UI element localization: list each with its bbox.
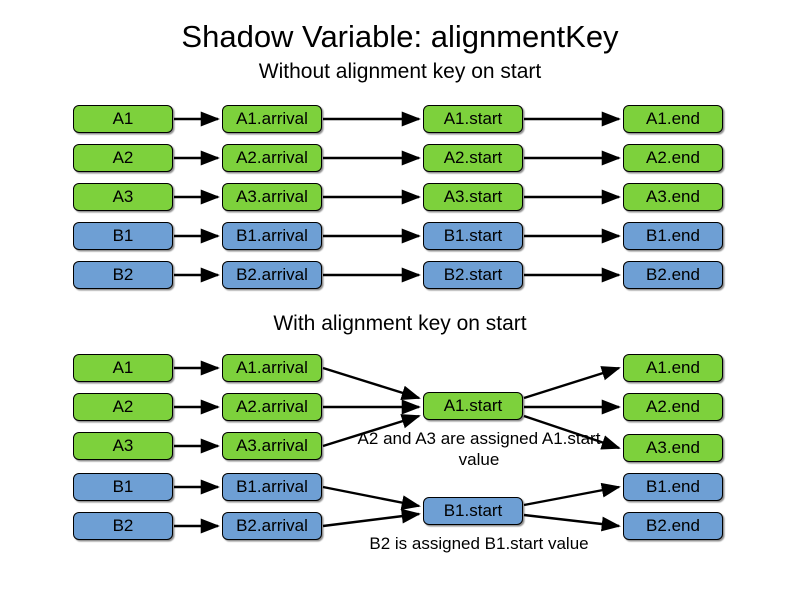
node-start-b1[interactable]: B1.start [423,222,523,250]
node-start-b2[interactable]: B2.start [423,261,523,289]
node-arrival-b2[interactable]: B2.arrival [222,261,322,289]
node2-end-b1[interactable]: B1.end [623,473,723,501]
node-start-a3[interactable]: A3.start [423,183,523,211]
node-end-b2[interactable]: B2.end [623,261,723,289]
node-end-a3[interactable]: A3.end [623,183,723,211]
annotation-a-start-sharing: A2 and A3 are assigned A1.start value [348,428,610,471]
node-source-b2[interactable]: B2 [73,261,173,289]
node2-end-b2[interactable]: B2.end [623,512,723,540]
node2-end-a2[interactable]: A2.end [623,393,723,421]
node2-arrival-a1[interactable]: A1.arrival [222,354,322,382]
node2-arrival-b1[interactable]: B1.arrival [222,473,322,501]
node2-source-a3[interactable]: A3 [73,432,173,460]
node2-source-b2[interactable]: B2 [73,512,173,540]
node-arrival-a2[interactable]: A2.arrival [222,144,322,172]
node2-source-a1[interactable]: A1 [73,354,173,382]
node2-shared-start-a1[interactable]: A1.start [423,392,523,420]
annotation-b-start-sharing: B2 is assigned B1.start value [348,533,610,554]
node-arrival-a1[interactable]: A1.arrival [222,105,322,133]
node2-arrival-a3[interactable]: A3.arrival [222,432,322,460]
node-end-b1[interactable]: B1.end [623,222,723,250]
node-arrival-b1[interactable]: B1.arrival [222,222,322,250]
node-end-a2[interactable]: A2.end [623,144,723,172]
section-heading-without-alignment: Without alignment key on start [0,60,800,84]
node-source-b1[interactable]: B1 [73,222,173,250]
node-source-a2[interactable]: A2 [73,144,173,172]
node2-end-a1[interactable]: A1.end [623,354,723,382]
node2-shared-start-b1[interactable]: B1.start [423,497,523,525]
node-start-a2[interactable]: A2.start [423,144,523,172]
node2-arrival-b2[interactable]: B2.arrival [222,512,322,540]
arrow-layer [0,0,800,600]
section-heading-with-alignment: With alignment key on start [0,312,800,336]
node-arrival-a3[interactable]: A3.arrival [222,183,322,211]
node2-arrival-a2[interactable]: A2.arrival [222,393,322,421]
diagram-canvas: Shadow Variable: alignmentKey Without al… [0,0,800,600]
node-start-a1[interactable]: A1.start [423,105,523,133]
node2-source-a2[interactable]: A2 [73,393,173,421]
node2-end-a3[interactable]: A3.end [623,434,723,462]
node-source-a1[interactable]: A1 [73,105,173,133]
node-source-a3[interactable]: A3 [73,183,173,211]
node2-source-b1[interactable]: B1 [73,473,173,501]
node-end-a1[interactable]: A1.end [623,105,723,133]
page-title: Shadow Variable: alignmentKey [0,20,800,54]
